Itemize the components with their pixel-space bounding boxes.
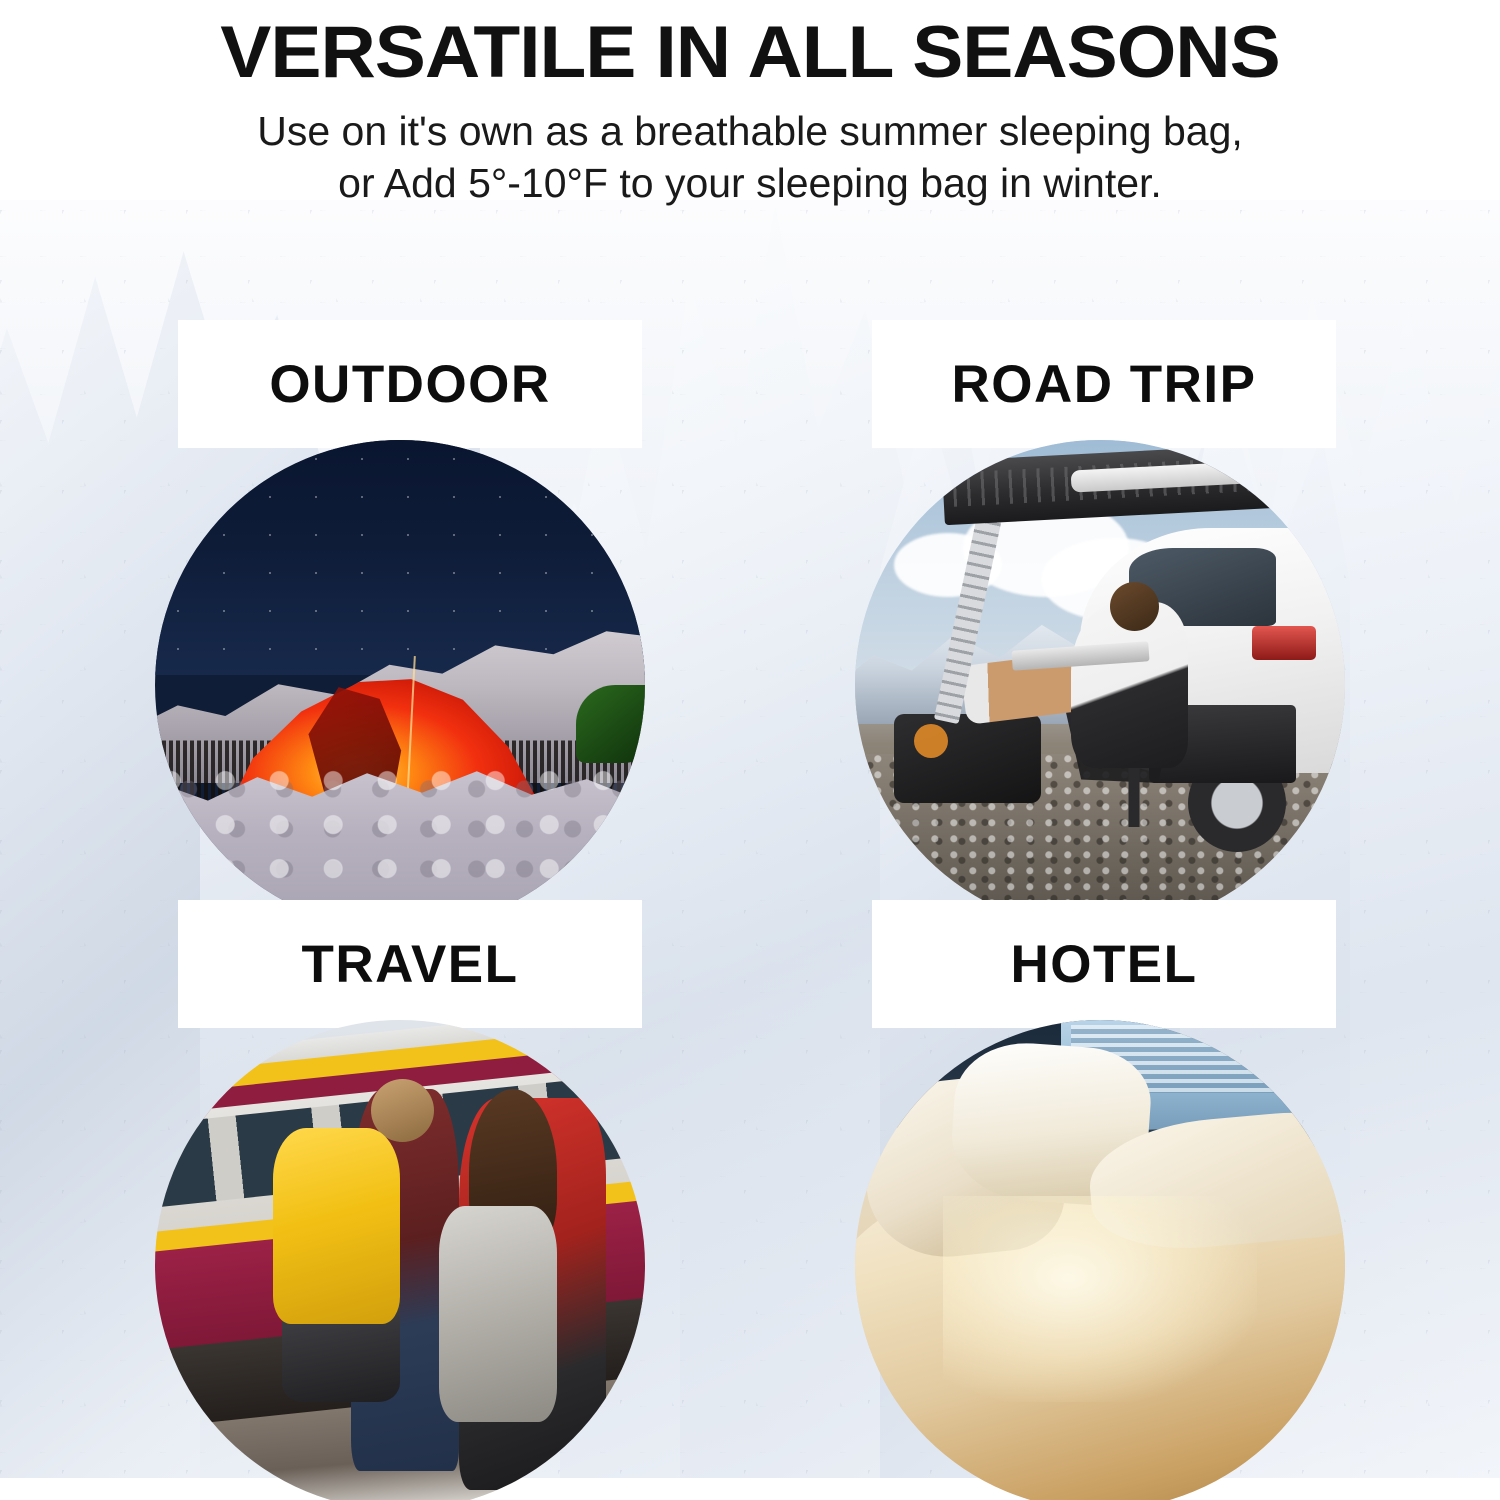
- tile-label-road-trip: ROAD TRIP: [952, 354, 1257, 415]
- infographic-canvas: VERSATILE IN ALL SEASONS Use on it's own…: [0, 0, 1500, 1500]
- header: VERSATILE IN ALL SEASONS Use on it's own…: [0, 0, 1500, 210]
- grey-backpack: [439, 1206, 557, 1422]
- tile-label-travel: TRAVEL: [301, 934, 518, 995]
- yellow-backpack: [273, 1128, 400, 1324]
- label-box-hotel: HOTEL: [872, 900, 1336, 1028]
- label-box-outdoor: OUTDOOR: [178, 320, 642, 448]
- tile-label-outdoor: OUTDOOR: [269, 354, 550, 415]
- second-tent: [576, 685, 645, 763]
- tail-light: [1252, 626, 1316, 660]
- duffel-bags: [894, 714, 1041, 802]
- photo-outdoor: [155, 440, 645, 930]
- photo-road-trip: [855, 440, 1345, 930]
- stars: [155, 440, 645, 675]
- page-subtitle: Use on it's own as a breathable summer s…: [0, 105, 1500, 210]
- photo-travel: [155, 1020, 645, 1500]
- photo-hotel: [855, 1020, 1345, 1500]
- camp-chair-legs: [1090, 763, 1178, 827]
- page-title: VERSATILE IN ALL SEASONS: [0, 0, 1500, 89]
- person-head: [1110, 582, 1159, 631]
- tile-label-hotel: HOTEL: [1010, 934, 1197, 995]
- label-box-road-trip: ROAD TRIP: [872, 320, 1336, 448]
- label-box-travel: TRAVEL: [178, 900, 642, 1028]
- sunlight-highlight: [943, 1196, 1257, 1402]
